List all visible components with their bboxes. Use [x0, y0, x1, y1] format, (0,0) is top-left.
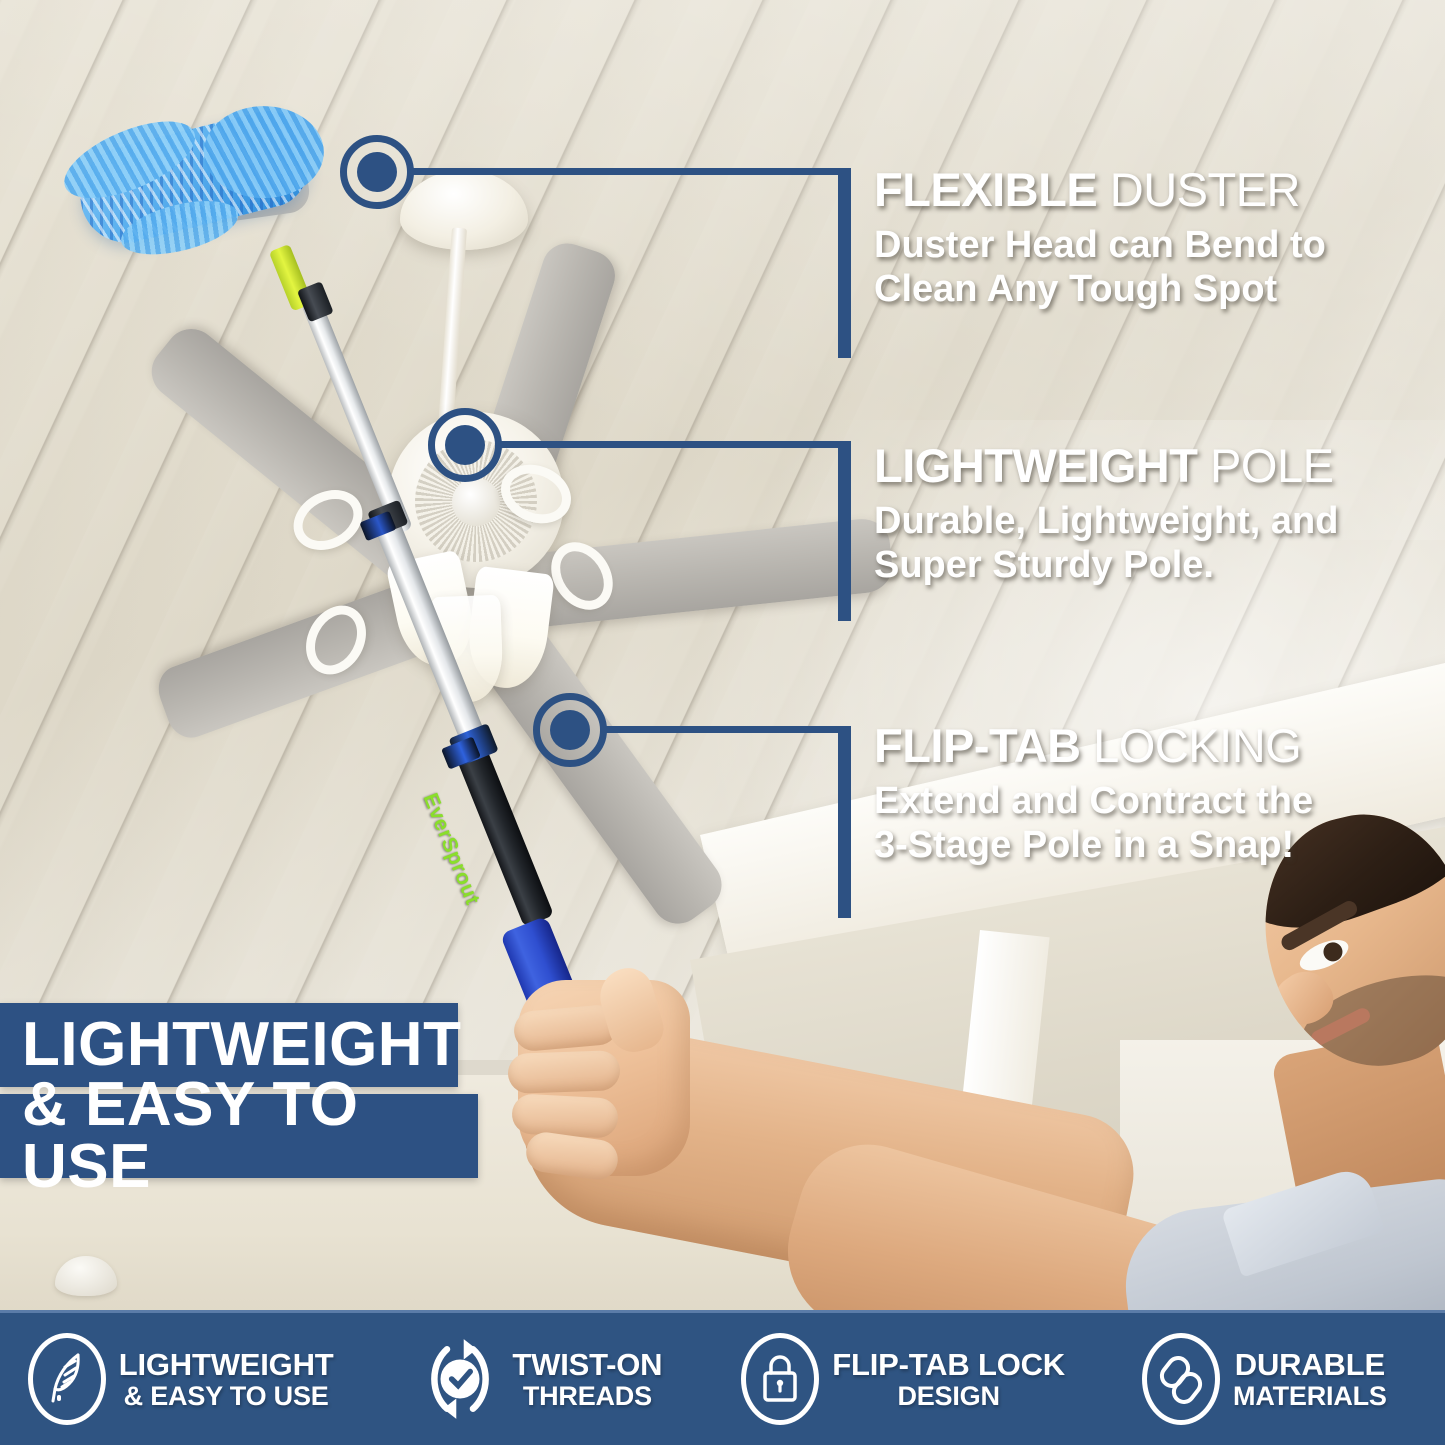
callout-connector-vertical-2 [838, 441, 851, 621]
feature-line-2: MATERIALS [1233, 1383, 1387, 1410]
callout-title-2: LIGHTWEIGHT POLE [874, 442, 1434, 490]
banner-line-2: & EASY TO USE [22, 1074, 478, 1198]
chain-link-icon [1142, 1333, 1220, 1425]
feature-line-1: DURABLE [1233, 1349, 1387, 1380]
feature-line-1: TWIST-ON [512, 1349, 662, 1380]
callout-body-line1-1: Duster Head can Bend to [874, 224, 1326, 266]
callout-body-line2-3: 3-Stage Pole in a Snap! [874, 824, 1294, 866]
callout-marker-3[interactable] [533, 693, 607, 767]
refresh-check-icon [421, 1333, 499, 1425]
callout-connector-horizontal-1 [412, 168, 844, 175]
callout-body-1: Duster Head can Bend to Clean Any Tough … [874, 223, 1434, 311]
callout-text-2: LIGHTWEIGHT POLE Durable, Lightweight, a… [874, 442, 1434, 587]
pole-brand-logo: EverSprout [418, 790, 485, 909]
feature-line-1: LIGHTWEIGHT [119, 1349, 334, 1380]
microfiber-duster-head [70, 104, 316, 253]
callout-connector-horizontal-3 [605, 726, 844, 733]
feature-label-group: FLIP-TAB LOCK DESIGN [832, 1349, 1065, 1410]
callout-title-3: FLIP-TAB LOCKING [874, 722, 1434, 770]
feature-line-1: FLIP-TAB LOCK [832, 1349, 1065, 1380]
callout-title-1: FLEXIBLE DUSTER [874, 166, 1434, 214]
callout-body-line1-3: Extend and Contract the [874, 780, 1313, 822]
callout-title-light-1: DUSTER [1110, 163, 1300, 216]
callout-body-2: Durable, Lightweight, and Super Sturdy P… [874, 499, 1434, 587]
callout-connector-horizontal-2 [500, 441, 844, 448]
callout-body-line1-2: Durable, Lightweight, and [874, 500, 1338, 542]
callout-title-strong-3: FLIP-TAB [874, 719, 1081, 772]
callout-title-strong-1: FLEXIBLE [874, 163, 1097, 216]
banner-line-1: LIGHTWEIGHT [22, 1014, 461, 1076]
pupil [1320, 939, 1345, 964]
callout-body-line2-2: Super Sturdy Pole. [874, 544, 1214, 586]
feature-label-group: DURABLE MATERIALS [1233, 1349, 1387, 1410]
infographic-canvas: EverSprout [0, 0, 1445, 1445]
feature-durable-materials: DURABLE MATERIALS [1084, 1333, 1445, 1425]
callout-title-light-3: LOCKING [1093, 719, 1301, 772]
callout-marker-1[interactable] [340, 135, 414, 209]
feature-lightweight: LIGHTWEIGHT & EASY TO USE [0, 1333, 361, 1425]
chenille-fringe [204, 106, 324, 198]
callout-marker-2[interactable] [428, 408, 502, 482]
feature-twist-on-threads: TWIST-ON THREADS [361, 1333, 722, 1425]
feature-bar: LIGHTWEIGHT & EASY TO USE TWIST-ON THREA… [0, 1310, 1445, 1445]
callout-body-3: Extend and Contract the 3-Stage Pole in … [874, 779, 1434, 867]
callout-text-1: FLEXIBLE DUSTER Duster Head can Bend to … [874, 166, 1434, 311]
callout-title-light-2: POLE [1210, 439, 1333, 492]
callout-text-3: FLIP-TAB LOCKING Extend and Contract the… [874, 722, 1434, 867]
callout-title-strong-2: LIGHTWEIGHT [874, 439, 1197, 492]
banner-easy-to-use: & EASY TO USE [0, 1094, 478, 1178]
finger [507, 1050, 620, 1094]
callout-connector-vertical-1 [838, 168, 851, 358]
person-hand [508, 952, 698, 1182]
feature-label-group: LIGHTWEIGHT & EASY TO USE [119, 1349, 334, 1410]
feature-line-2: THREADS [512, 1383, 662, 1410]
feature-line-2: & EASY TO USE [119, 1383, 334, 1410]
callout-connector-vertical-3 [838, 726, 851, 918]
pole-segment-middle [373, 515, 487, 747]
feature-line-2: DESIGN [832, 1383, 1065, 1410]
feature-label-group: TWIST-ON THREADS [512, 1349, 662, 1410]
finger [511, 1093, 619, 1138]
pole-collar [297, 281, 334, 322]
lock-icon [741, 1333, 819, 1425]
product-photo: EverSprout [0, 0, 1445, 1310]
callout-body-line2-1: Clean Any Tough Spot [874, 268, 1277, 310]
feather-icon [28, 1333, 106, 1425]
feature-flip-tab-lock: FLIP-TAB LOCK DESIGN [723, 1333, 1084, 1425]
